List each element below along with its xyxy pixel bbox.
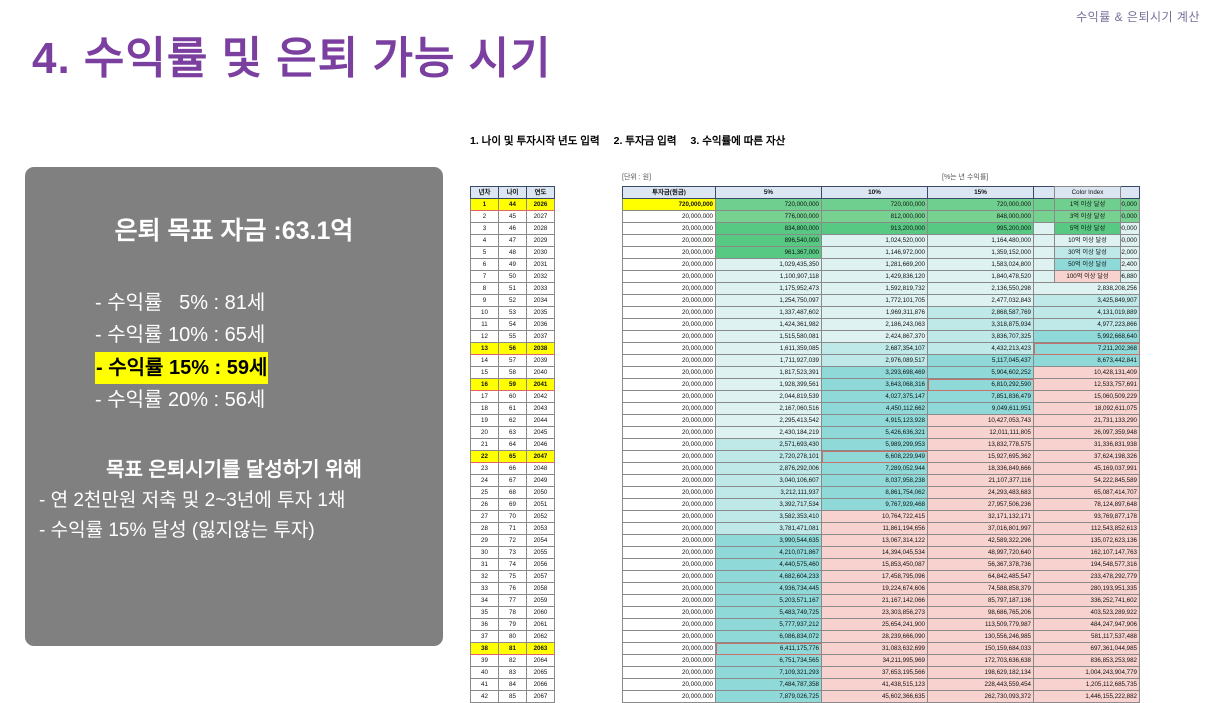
value-5pct-cell[interactable]: 4,210,071,867 bbox=[716, 547, 822, 559]
row-index[interactable]: 30 bbox=[471, 547, 499, 559]
value-10pct-cell[interactable]: 5,426,636,321 bbox=[822, 427, 928, 439]
col-header-15%[interactable]: 15% bbox=[928, 187, 1034, 199]
row-index[interactable]: 15 bbox=[471, 367, 499, 379]
table-row[interactable]: 20,000,0002,876,292,0067,289,052,94418,3… bbox=[623, 463, 1140, 475]
age-cell[interactable]: 81 bbox=[499, 643, 527, 655]
value-5pct-cell[interactable]: 2,876,292,006 bbox=[716, 463, 822, 475]
table-row[interactable]: 20,000,0002,044,819,5394,027,375,1477,85… bbox=[623, 391, 1140, 403]
investment-cell[interactable]: 20,000,000 bbox=[623, 355, 716, 367]
value-10pct-cell[interactable]: 10,764,722,415 bbox=[822, 511, 928, 523]
table-row[interactable]: 20,000,0002,430,184,2195,426,636,32112,0… bbox=[623, 427, 1140, 439]
investment-cell[interactable]: 20,000,000 bbox=[623, 667, 716, 679]
investment-cell[interactable]: 20,000,000 bbox=[623, 475, 716, 487]
value-20pct-cell[interactable]: 37,624,198,326 bbox=[1034, 451, 1140, 463]
value-10pct-cell[interactable]: 2,186,243,063 bbox=[822, 319, 928, 331]
value-10pct-cell[interactable]: 4,450,112,662 bbox=[822, 403, 928, 415]
table-row[interactable]: 20,000,0001,817,523,3913,293,698,4695,90… bbox=[623, 367, 1140, 379]
age-year-body[interactable]: 1442026245202734620284472029548203064920… bbox=[471, 199, 555, 703]
year-cell[interactable]: 2064 bbox=[527, 655, 555, 667]
value-10pct-cell[interactable]: 31,083,632,699 bbox=[822, 643, 928, 655]
value-20pct-cell[interactable]: 12,533,757,691 bbox=[1034, 379, 1140, 391]
investment-cell[interactable]: 20,000,000 bbox=[623, 331, 716, 343]
value-15pct-cell[interactable]: 27,957,506,236 bbox=[928, 499, 1034, 511]
value-5pct-cell[interactable]: 7,109,321,293 bbox=[716, 667, 822, 679]
value-20pct-cell[interactable]: 7,211,202,368 bbox=[1034, 343, 1140, 355]
value-5pct-cell[interactable]: 3,392,717,534 bbox=[716, 499, 822, 511]
value-5pct-cell[interactable]: 896,540,000 bbox=[716, 235, 822, 247]
value-20pct-cell[interactable]: 2,838,208,256 bbox=[1034, 283, 1140, 295]
value-15pct-cell[interactable]: 2,136,550,298 bbox=[928, 283, 1034, 295]
investment-cell[interactable]: 20,000,000 bbox=[623, 319, 716, 331]
table-row[interactable]: 23662048 bbox=[471, 463, 555, 475]
value-5pct-cell[interactable]: 7,484,787,358 bbox=[716, 679, 822, 691]
value-5pct-cell[interactable]: 1,175,952,473 bbox=[716, 283, 822, 295]
year-cell[interactable]: 2055 bbox=[527, 547, 555, 559]
table-row[interactable]: 20,000,0003,212,111,9378,861,754,06224,2… bbox=[623, 487, 1140, 499]
table-row[interactable]: 19622044 bbox=[471, 415, 555, 427]
value-15pct-cell[interactable]: 150,159,684,033 bbox=[928, 643, 1034, 655]
table-row[interactable]: 20,000,0003,040,106,6078,037,958,23821,1… bbox=[623, 475, 1140, 487]
row-index[interactable]: 8 bbox=[471, 283, 499, 295]
value-15pct-cell[interactable]: 24,293,483,683 bbox=[928, 487, 1034, 499]
year-cell[interactable]: 2044 bbox=[527, 415, 555, 427]
investment-cell[interactable]: 20,000,000 bbox=[623, 283, 716, 295]
value-5pct-cell[interactable]: 4,440,575,460 bbox=[716, 559, 822, 571]
year-cell[interactable]: 2065 bbox=[527, 667, 555, 679]
value-15pct-cell[interactable]: 172,703,636,638 bbox=[928, 655, 1034, 667]
investment-cell[interactable]: 20,000,000 bbox=[623, 211, 716, 223]
value-5pct-cell[interactable]: 2,720,278,101 bbox=[716, 451, 822, 463]
value-15pct-cell[interactable]: 1,583,024,800 bbox=[928, 259, 1034, 271]
value-15pct-cell[interactable]: 5,117,045,437 bbox=[928, 355, 1034, 367]
age-cell[interactable]: 62 bbox=[499, 415, 527, 427]
value-10pct-cell[interactable]: 1,592,819,732 bbox=[822, 283, 928, 295]
age-cell[interactable]: 51 bbox=[499, 283, 527, 295]
value-20pct-cell[interactable]: 162,107,147,763 bbox=[1034, 547, 1140, 559]
age-cell[interactable]: 50 bbox=[499, 271, 527, 283]
row-index[interactable]: 11 bbox=[471, 319, 499, 331]
table-row[interactable]: 18612043 bbox=[471, 403, 555, 415]
value-10pct-cell[interactable]: 25,654,241,900 bbox=[822, 619, 928, 631]
year-cell[interactable]: 2028 bbox=[527, 223, 555, 235]
table-row[interactable]: 40832065 bbox=[471, 667, 555, 679]
value-5pct-cell[interactable]: 3,781,471,081 bbox=[716, 523, 822, 535]
investment-cell[interactable]: 20,000,000 bbox=[623, 259, 716, 271]
value-15pct-cell[interactable]: 9,049,611,951 bbox=[928, 403, 1034, 415]
value-15pct-cell[interactable]: 262,730,093,372 bbox=[928, 691, 1034, 703]
value-5pct-cell[interactable]: 3,582,353,410 bbox=[716, 511, 822, 523]
value-15pct-cell[interactable]: 848,000,000 bbox=[928, 211, 1034, 223]
table-row[interactable]: 13562038 bbox=[471, 343, 555, 355]
year-cell[interactable]: 2034 bbox=[527, 295, 555, 307]
age-cell[interactable]: 65 bbox=[499, 451, 527, 463]
value-15pct-cell[interactable]: 720,000,000 bbox=[928, 199, 1034, 211]
value-20pct-cell[interactable]: 233,478,292,779 bbox=[1034, 571, 1140, 583]
value-5pct-cell[interactable]: 1,100,907,118 bbox=[716, 271, 822, 283]
year-cell[interactable]: 2047 bbox=[527, 451, 555, 463]
year-cell[interactable]: 2033 bbox=[527, 283, 555, 295]
age-cell[interactable]: 59 bbox=[499, 379, 527, 391]
table-row[interactable]: 20,000,0001,515,580,0812,424,867,3703,83… bbox=[623, 331, 1140, 343]
investment-cell[interactable]: 20,000,000 bbox=[623, 235, 716, 247]
value-20pct-cell[interactable]: 1,446,155,222,882 bbox=[1034, 691, 1140, 703]
value-20pct-cell[interactable]: 1,004,243,904,779 bbox=[1034, 667, 1140, 679]
value-10pct-cell[interactable]: 8,861,754,062 bbox=[822, 487, 928, 499]
value-10pct-cell[interactable]: 13,067,314,122 bbox=[822, 535, 928, 547]
table-row[interactable]: 27702052 bbox=[471, 511, 555, 523]
table-row[interactable]: 20,000,0006,411,175,77631,083,632,699150… bbox=[623, 643, 1140, 655]
table-row[interactable]: 8512033 bbox=[471, 283, 555, 295]
value-5pct-cell[interactable]: 3,990,544,635 bbox=[716, 535, 822, 547]
row-index[interactable]: 14 bbox=[471, 355, 499, 367]
col-header-investment[interactable]: 투자금(원금) bbox=[623, 187, 716, 199]
investment-cell[interactable]: 20,000,000 bbox=[623, 223, 716, 235]
investment-cell[interactable]: 20,000,000 bbox=[623, 559, 716, 571]
row-index[interactable]: 18 bbox=[471, 403, 499, 415]
col-header-연도[interactable]: 연도 bbox=[527, 187, 555, 199]
value-5pct-cell[interactable]: 1,817,523,391 bbox=[716, 367, 822, 379]
table-row[interactable]: 20,000,0005,777,937,21225,654,241,900113… bbox=[623, 619, 1140, 631]
investment-cell[interactable]: 20,000,000 bbox=[623, 343, 716, 355]
table-row[interactable]: 6492031 bbox=[471, 259, 555, 271]
table-row[interactable]: 20,000,0006,086,834,07228,239,666,090130… bbox=[623, 631, 1140, 643]
age-cell[interactable]: 44 bbox=[499, 199, 527, 211]
table-row[interactable]: 22652047 bbox=[471, 451, 555, 463]
year-cell[interactable]: 2057 bbox=[527, 571, 555, 583]
year-cell[interactable]: 2045 bbox=[527, 427, 555, 439]
age-cell[interactable]: 56 bbox=[499, 343, 527, 355]
value-10pct-cell[interactable]: 2,424,867,370 bbox=[822, 331, 928, 343]
table-row[interactable]: 20,000,0003,990,544,63513,067,314,12242,… bbox=[623, 535, 1140, 547]
row-index[interactable]: 22 bbox=[471, 451, 499, 463]
row-index[interactable]: 39 bbox=[471, 655, 499, 667]
table-row[interactable]: 20,000,0004,936,734,44519,224,674,60674,… bbox=[623, 583, 1140, 595]
row-index[interactable]: 35 bbox=[471, 607, 499, 619]
value-10pct-cell[interactable]: 913,200,000 bbox=[822, 223, 928, 235]
value-5pct-cell[interactable]: 1,711,927,039 bbox=[716, 355, 822, 367]
value-15pct-cell[interactable]: 10,427,053,743 bbox=[928, 415, 1034, 427]
value-5pct-cell[interactable]: 961,367,000 bbox=[716, 247, 822, 259]
value-15pct-cell[interactable]: 2,868,587,769 bbox=[928, 307, 1034, 319]
col-header-년차[interactable]: 년차 bbox=[471, 187, 499, 199]
investment-cell[interactable]: 20,000,000 bbox=[623, 427, 716, 439]
value-10pct-cell[interactable]: 4,027,375,147 bbox=[822, 391, 928, 403]
investment-cell[interactable]: 720,000,000 bbox=[623, 199, 716, 211]
age-cell[interactable]: 67 bbox=[499, 475, 527, 487]
table-row[interactable]: 42852067 bbox=[471, 691, 555, 703]
value-15pct-cell[interactable]: 228,443,559,454 bbox=[928, 679, 1034, 691]
value-5pct-cell[interactable]: 2,167,060,516 bbox=[716, 403, 822, 415]
investment-cell[interactable]: 20,000,000 bbox=[623, 547, 716, 559]
investment-cell[interactable]: 20,000,000 bbox=[623, 415, 716, 427]
table-row[interactable]: 36792061 bbox=[471, 619, 555, 631]
value-15pct-cell[interactable]: 4,432,213,423 bbox=[928, 343, 1034, 355]
year-cell[interactable]: 2058 bbox=[527, 583, 555, 595]
table-row[interactable]: 20,000,0007,109,321,29337,653,195,566198… bbox=[623, 667, 1140, 679]
table-row[interactable]: 21642046 bbox=[471, 439, 555, 451]
value-5pct-cell[interactable]: 720,000,000 bbox=[716, 199, 822, 211]
value-10pct-cell[interactable]: 812,000,000 bbox=[822, 211, 928, 223]
age-cell[interactable]: 69 bbox=[499, 499, 527, 511]
value-5pct-cell[interactable]: 776,000,000 bbox=[716, 211, 822, 223]
row-index[interactable]: 42 bbox=[471, 691, 499, 703]
age-cell[interactable]: 52 bbox=[499, 295, 527, 307]
value-5pct-cell[interactable]: 1,029,435,350 bbox=[716, 259, 822, 271]
table-row[interactable]: 25682050 bbox=[471, 487, 555, 499]
row-index[interactable]: 4 bbox=[471, 235, 499, 247]
value-15pct-cell[interactable]: 6,810,292,590 bbox=[928, 379, 1034, 391]
age-cell[interactable]: 72 bbox=[499, 535, 527, 547]
age-cell[interactable]: 66 bbox=[499, 463, 527, 475]
value-20pct-cell[interactable]: 280,193,951,335 bbox=[1034, 583, 1140, 595]
year-cell[interactable]: 2039 bbox=[527, 355, 555, 367]
year-cell[interactable]: 2063 bbox=[527, 643, 555, 655]
value-20pct-cell[interactable]: 581,117,537,488 bbox=[1034, 631, 1140, 643]
value-10pct-cell[interactable]: 41,438,515,123 bbox=[822, 679, 928, 691]
col-header-10%[interactable]: 10% bbox=[822, 187, 928, 199]
row-index[interactable]: 25 bbox=[471, 487, 499, 499]
value-15pct-cell[interactable]: 1,359,152,000 bbox=[928, 247, 1034, 259]
table-row[interactable]: 41842066 bbox=[471, 679, 555, 691]
investment-cell[interactable]: 20,000,000 bbox=[623, 631, 716, 643]
value-20pct-cell[interactable]: 8,673,442,841 bbox=[1034, 355, 1140, 367]
value-20pct-cell[interactable]: 45,169,037,991 bbox=[1034, 463, 1140, 475]
table-row[interactable]: 9522034 bbox=[471, 295, 555, 307]
value-20pct-cell[interactable]: 194,548,577,316 bbox=[1034, 559, 1140, 571]
value-15pct-cell[interactable]: 130,556,246,985 bbox=[928, 631, 1034, 643]
table-row[interactable]: 34772059 bbox=[471, 595, 555, 607]
investment-cell[interactable]: 20,000,000 bbox=[623, 391, 716, 403]
year-cell[interactable]: 2059 bbox=[527, 595, 555, 607]
value-15pct-cell[interactable]: 1,840,478,520 bbox=[928, 271, 1034, 283]
value-20pct-cell[interactable]: 697,361,044,985 bbox=[1034, 643, 1140, 655]
value-15pct-cell[interactable]: 113,509,779,987 bbox=[928, 619, 1034, 631]
value-10pct-cell[interactable]: 14,394,045,534 bbox=[822, 547, 928, 559]
table-row[interactable]: 11542036 bbox=[471, 319, 555, 331]
value-20pct-cell[interactable]: 4,977,223,866 bbox=[1034, 319, 1140, 331]
row-index[interactable]: 1 bbox=[471, 199, 499, 211]
table-row[interactable]: 20,000,0007,879,026,72545,602,366,635262… bbox=[623, 691, 1140, 703]
investment-cell[interactable]: 20,000,000 bbox=[623, 379, 716, 391]
value-20pct-cell[interactable]: 54,222,845,589 bbox=[1034, 475, 1140, 487]
age-cell[interactable]: 79 bbox=[499, 619, 527, 631]
age-cell[interactable]: 80 bbox=[499, 631, 527, 643]
investment-cell[interactable]: 20,000,000 bbox=[623, 367, 716, 379]
investment-cell[interactable]: 20,000,000 bbox=[623, 535, 716, 547]
age-cell[interactable]: 85 bbox=[499, 691, 527, 703]
age-cell[interactable]: 77 bbox=[499, 595, 527, 607]
age-cell[interactable]: 58 bbox=[499, 367, 527, 379]
investment-cell[interactable]: 20,000,000 bbox=[623, 439, 716, 451]
table-row[interactable]: 20,000,0002,167,060,5164,450,112,6629,04… bbox=[623, 403, 1140, 415]
value-15pct-cell[interactable]: 37,016,801,997 bbox=[928, 523, 1034, 535]
year-cell[interactable]: 2052 bbox=[527, 511, 555, 523]
year-cell[interactable]: 2048 bbox=[527, 463, 555, 475]
table-row[interactable]: 20,000,0004,682,604,23317,458,795,09664,… bbox=[623, 571, 1140, 583]
value-5pct-cell[interactable]: 2,044,819,539 bbox=[716, 391, 822, 403]
table-row[interactable]: 1442026 bbox=[471, 199, 555, 211]
investment-cell[interactable]: 20,000,000 bbox=[623, 403, 716, 415]
value-15pct-cell[interactable]: 5,904,602,252 bbox=[928, 367, 1034, 379]
value-5pct-cell[interactable]: 1,254,750,097 bbox=[716, 295, 822, 307]
value-15pct-cell[interactable]: 12,011,111,805 bbox=[928, 427, 1034, 439]
age-cell[interactable]: 54 bbox=[499, 319, 527, 331]
value-10pct-cell[interactable]: 19,224,674,606 bbox=[822, 583, 928, 595]
value-15pct-cell[interactable]: 21,107,377,116 bbox=[928, 475, 1034, 487]
value-20pct-cell[interactable]: 836,853,253,982 bbox=[1034, 655, 1140, 667]
investment-cell[interactable]: 20,000,000 bbox=[623, 655, 716, 667]
age-cell[interactable]: 63 bbox=[499, 427, 527, 439]
value-10pct-cell[interactable]: 23,303,856,273 bbox=[822, 607, 928, 619]
table-row[interactable]: 5482030 bbox=[471, 247, 555, 259]
value-5pct-cell[interactable]: 2,430,184,219 bbox=[716, 427, 822, 439]
row-index[interactable]: 13 bbox=[471, 343, 499, 355]
table-row[interactable]: 20,000,0001,711,927,0392,976,089,5175,11… bbox=[623, 355, 1140, 367]
year-cell[interactable]: 2035 bbox=[527, 307, 555, 319]
value-5pct-cell[interactable]: 5,777,937,212 bbox=[716, 619, 822, 631]
value-10pct-cell[interactable]: 15,853,450,087 bbox=[822, 559, 928, 571]
value-20pct-cell[interactable]: 78,124,897,648 bbox=[1034, 499, 1140, 511]
year-cell[interactable]: 2032 bbox=[527, 271, 555, 283]
value-15pct-cell[interactable]: 98,686,765,206 bbox=[928, 607, 1034, 619]
table-row[interactable]: 31742056 bbox=[471, 559, 555, 571]
row-index[interactable]: 19 bbox=[471, 415, 499, 427]
table-row[interactable]: 12552037 bbox=[471, 331, 555, 343]
investment-cell[interactable]: 20,000,000 bbox=[623, 451, 716, 463]
table-row[interactable]: 20,000,0002,571,693,4305,989,299,95313,8… bbox=[623, 439, 1140, 451]
age-cell[interactable]: 83 bbox=[499, 667, 527, 679]
row-index[interactable]: 40 bbox=[471, 667, 499, 679]
value-15pct-cell[interactable]: 32,171,132,171 bbox=[928, 511, 1034, 523]
investment-cell[interactable]: 20,000,000 bbox=[623, 619, 716, 631]
value-5pct-cell[interactable]: 4,682,604,233 bbox=[716, 571, 822, 583]
value-20pct-cell[interactable]: 4,131,019,889 bbox=[1034, 307, 1140, 319]
value-10pct-cell[interactable]: 8,037,958,238 bbox=[822, 475, 928, 487]
year-cell[interactable]: 2026 bbox=[527, 199, 555, 211]
year-cell[interactable]: 2053 bbox=[527, 523, 555, 535]
table-row[interactable]: 16592041 bbox=[471, 379, 555, 391]
value-5pct-cell[interactable]: 1,928,399,561 bbox=[716, 379, 822, 391]
investment-cell[interactable]: 20,000,000 bbox=[623, 295, 716, 307]
value-10pct-cell[interactable]: 9,767,929,468 bbox=[822, 499, 928, 511]
table-row[interactable]: 15582040 bbox=[471, 367, 555, 379]
value-10pct-cell[interactable]: 1,969,311,876 bbox=[822, 307, 928, 319]
age-cell[interactable]: 53 bbox=[499, 307, 527, 319]
value-10pct-cell[interactable]: 2,687,354,107 bbox=[822, 343, 928, 355]
year-cell[interactable]: 2061 bbox=[527, 619, 555, 631]
value-10pct-cell[interactable]: 3,293,698,469 bbox=[822, 367, 928, 379]
investment-cell[interactable]: 20,000,000 bbox=[623, 595, 716, 607]
value-15pct-cell[interactable]: 13,832,778,575 bbox=[928, 439, 1034, 451]
age-cell[interactable]: 46 bbox=[499, 223, 527, 235]
row-index[interactable]: 38 bbox=[471, 643, 499, 655]
year-cell[interactable]: 2040 bbox=[527, 367, 555, 379]
value-15pct-cell[interactable]: 18,336,849,666 bbox=[928, 463, 1034, 475]
value-10pct-cell[interactable]: 17,458,795,096 bbox=[822, 571, 928, 583]
table-row[interactable]: 37802062 bbox=[471, 631, 555, 643]
value-5pct-cell[interactable]: 834,800,000 bbox=[716, 223, 822, 235]
table-row[interactable]: 20,000,0004,210,071,86714,394,045,53448,… bbox=[623, 547, 1140, 559]
age-cell[interactable]: 45 bbox=[499, 211, 527, 223]
value-20pct-cell[interactable]: 1,205,112,685,735 bbox=[1034, 679, 1140, 691]
age-cell[interactable]: 57 bbox=[499, 355, 527, 367]
row-index[interactable]: 26 bbox=[471, 499, 499, 511]
year-cell[interactable]: 2042 bbox=[527, 391, 555, 403]
row-index[interactable]: 31 bbox=[471, 559, 499, 571]
age-cell[interactable]: 55 bbox=[499, 331, 527, 343]
table-row[interactable]: 20,000,0001,175,952,4731,592,819,7322,13… bbox=[623, 283, 1140, 295]
age-cell[interactable]: 84 bbox=[499, 679, 527, 691]
value-10pct-cell[interactable]: 7,289,052,944 bbox=[822, 463, 928, 475]
value-10pct-cell[interactable]: 4,915,123,928 bbox=[822, 415, 928, 427]
year-cell[interactable]: 2050 bbox=[527, 487, 555, 499]
year-cell[interactable]: 2051 bbox=[527, 499, 555, 511]
value-10pct-cell[interactable]: 1,281,669,200 bbox=[822, 259, 928, 271]
value-5pct-cell[interactable]: 6,751,734,565 bbox=[716, 655, 822, 667]
value-15pct-cell[interactable]: 42,589,322,296 bbox=[928, 535, 1034, 547]
age-cell[interactable]: 61 bbox=[499, 403, 527, 415]
age-cell[interactable]: 60 bbox=[499, 391, 527, 403]
year-cell[interactable]: 2046 bbox=[527, 439, 555, 451]
age-cell[interactable]: 82 bbox=[499, 655, 527, 667]
year-cell[interactable]: 2031 bbox=[527, 259, 555, 271]
age-cell[interactable]: 73 bbox=[499, 547, 527, 559]
value-20pct-cell[interactable]: 3,425,849,907 bbox=[1034, 295, 1140, 307]
year-cell[interactable]: 2066 bbox=[527, 679, 555, 691]
value-20pct-cell[interactable]: 5,992,668,640 bbox=[1034, 331, 1140, 343]
investment-cell[interactable]: 20,000,000 bbox=[623, 247, 716, 259]
row-index[interactable]: 34 bbox=[471, 595, 499, 607]
row-index[interactable]: 17 bbox=[471, 391, 499, 403]
row-index[interactable]: 23 bbox=[471, 463, 499, 475]
investment-cell[interactable]: 20,000,000 bbox=[623, 643, 716, 655]
col-header-나이[interactable]: 나이 bbox=[499, 187, 527, 199]
investment-cell[interactable]: 20,000,000 bbox=[623, 307, 716, 319]
year-cell[interactable]: 2029 bbox=[527, 235, 555, 247]
year-cell[interactable]: 2067 bbox=[527, 691, 555, 703]
value-10pct-cell[interactable]: 5,989,299,953 bbox=[822, 439, 928, 451]
table-row[interactable]: 20,000,0007,484,787,35841,438,515,123228… bbox=[623, 679, 1140, 691]
value-5pct-cell[interactable]: 1,424,361,982 bbox=[716, 319, 822, 331]
age-cell[interactable]: 64 bbox=[499, 439, 527, 451]
year-cell[interactable]: 2030 bbox=[527, 247, 555, 259]
row-index[interactable]: 28 bbox=[471, 523, 499, 535]
value-10pct-cell[interactable]: 45,602,366,635 bbox=[822, 691, 928, 703]
value-10pct-cell[interactable]: 34,211,995,969 bbox=[822, 655, 928, 667]
table-row[interactable]: 20,000,0001,928,399,5613,643,068,3166,81… bbox=[623, 379, 1140, 391]
value-5pct-cell[interactable]: 1,515,580,081 bbox=[716, 331, 822, 343]
age-cell[interactable]: 74 bbox=[499, 559, 527, 571]
value-15pct-cell[interactable]: 198,629,182,134 bbox=[928, 667, 1034, 679]
value-20pct-cell[interactable]: 93,769,877,178 bbox=[1034, 511, 1140, 523]
value-20pct-cell[interactable]: 21,731,133,290 bbox=[1034, 415, 1140, 427]
year-cell[interactable]: 2056 bbox=[527, 559, 555, 571]
table-row[interactable]: 20,000,0003,582,353,41010,764,722,41532,… bbox=[623, 511, 1140, 523]
row-index[interactable]: 3 bbox=[471, 223, 499, 235]
year-cell[interactable]: 2036 bbox=[527, 319, 555, 331]
value-10pct-cell[interactable]: 37,653,195,566 bbox=[822, 667, 928, 679]
row-index[interactable]: 37 bbox=[471, 631, 499, 643]
row-index[interactable]: 41 bbox=[471, 679, 499, 691]
table-row[interactable]: 24672049 bbox=[471, 475, 555, 487]
value-10pct-cell[interactable]: 1,146,972,000 bbox=[822, 247, 928, 259]
table-row[interactable]: 28712053 bbox=[471, 523, 555, 535]
value-10pct-cell[interactable]: 720,000,000 bbox=[822, 199, 928, 211]
value-20pct-cell[interactable]: 112,543,852,613 bbox=[1034, 523, 1140, 535]
year-cell[interactable]: 2041 bbox=[527, 379, 555, 391]
row-index[interactable]: 7 bbox=[471, 271, 499, 283]
value-15pct-cell[interactable]: 3,318,875,934 bbox=[928, 319, 1034, 331]
